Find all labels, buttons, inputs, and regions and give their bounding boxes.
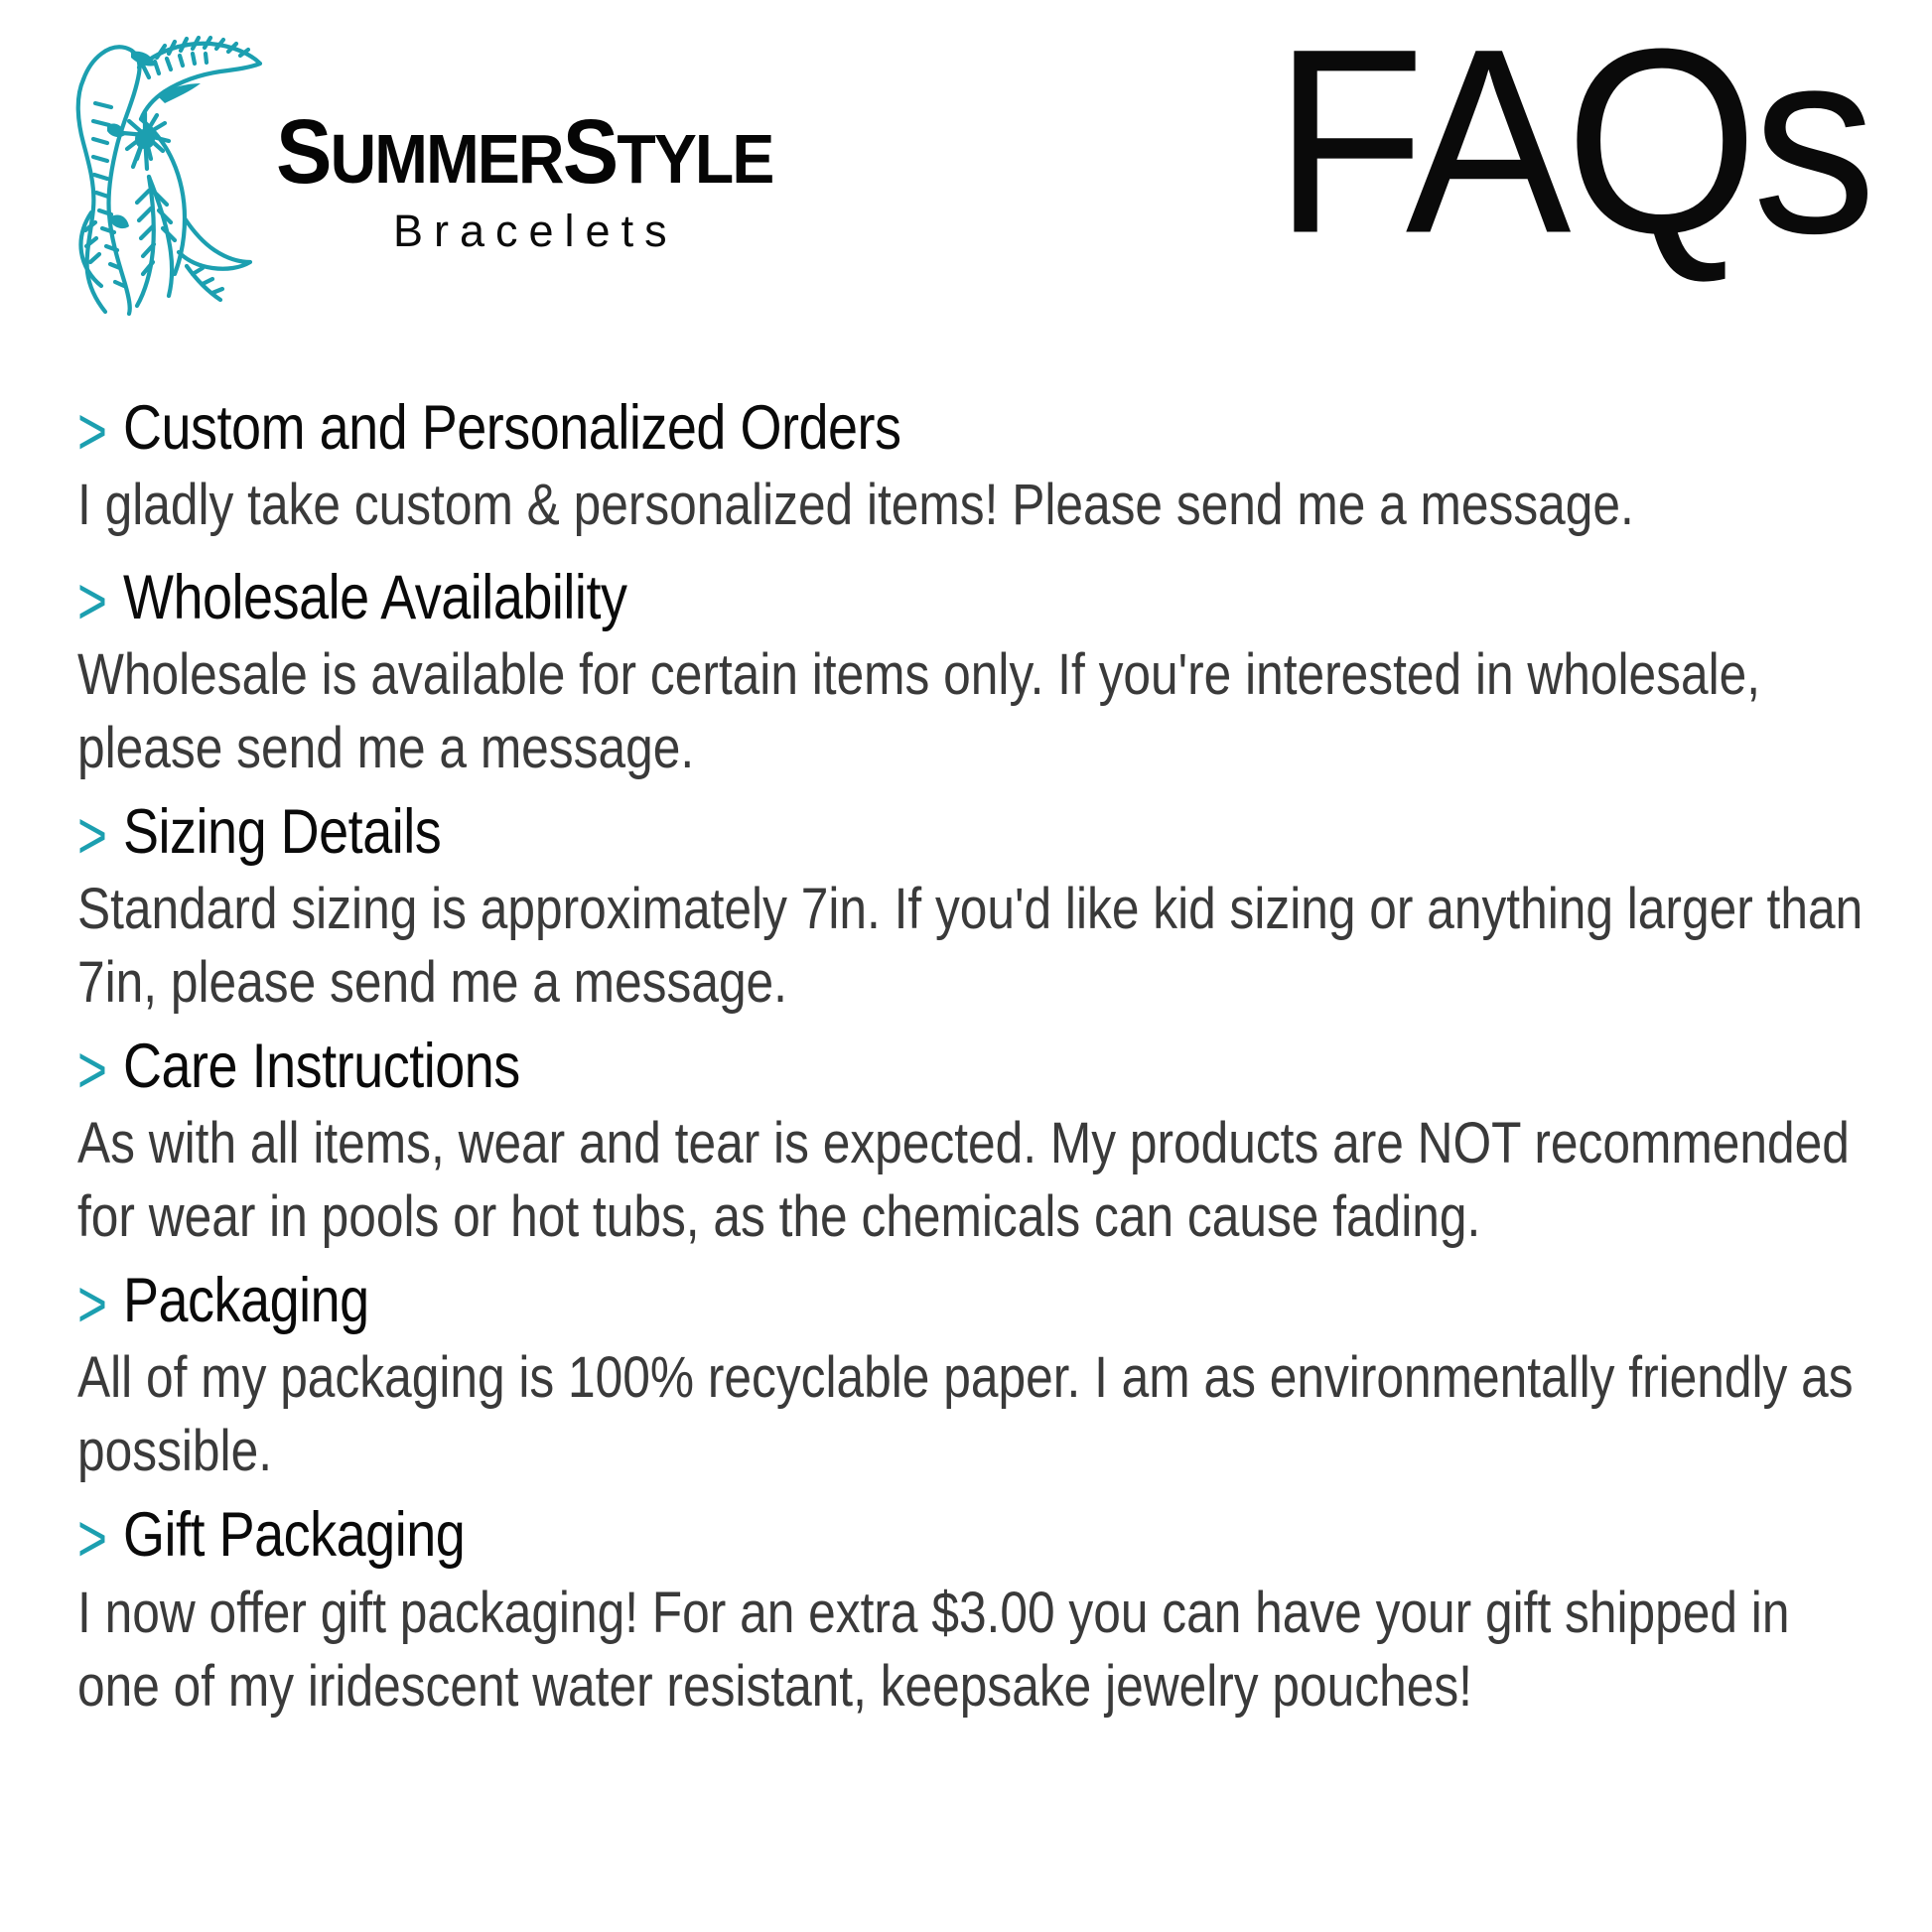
faq-answer: Wholesale is available for certain items… bbox=[77, 639, 1868, 785]
faq-answer: Standard sizing is approximately 7in. If… bbox=[77, 874, 1868, 1020]
chevron-right-icon: > bbox=[77, 398, 107, 466]
faq-question-row: > Sizing Details bbox=[77, 805, 1868, 864]
faq-page: SUMMERSTYLE Bracelets FAQs > Custom and … bbox=[0, 0, 1932, 1932]
brand-subtitle: Bracelets bbox=[393, 206, 816, 257]
faq-question-row: > Packaging bbox=[77, 1274, 1868, 1332]
faq-question-row: > Wholesale Availability bbox=[77, 571, 1868, 629]
faq-question: Packaging bbox=[123, 1270, 369, 1333]
faq-list: > Custom and Personalized Orders I gladl… bbox=[77, 401, 1868, 1708]
faq-item-custom-and-personalized-orders: > Custom and Personalized Orders I gladl… bbox=[77, 401, 1868, 535]
faq-question: Custom and Personalized Orders bbox=[123, 396, 901, 460]
brand-name: SUMMERSTYLE bbox=[276, 113, 773, 192]
faq-item-care-instructions: > Care Instructions As with all items, w… bbox=[77, 1039, 1868, 1238]
faq-question-row: > Custom and Personalized Orders bbox=[77, 401, 1868, 460]
palm-tree-icon bbox=[62, 18, 270, 316]
faq-answer: I gladly take custom & personalized item… bbox=[77, 470, 1868, 542]
chevron-right-icon: > bbox=[77, 568, 107, 635]
faq-answer: As with all items, wear and tear is expe… bbox=[77, 1108, 1868, 1254]
brand-name-tyle: TYLE bbox=[617, 120, 772, 198]
faq-item-gift-packaging: > Gift Packaging I now offer gift packag… bbox=[77, 1508, 1868, 1707]
brand-name-s1: S bbox=[276, 101, 331, 203]
faq-answer: I now offer gift packaging! For an extra… bbox=[77, 1578, 1868, 1724]
faq-item-packaging: > Packaging All of my packaging is 100% … bbox=[77, 1274, 1868, 1472]
chevron-right-icon: > bbox=[77, 802, 107, 870]
faq-question: Care Instructions bbox=[123, 1035, 520, 1098]
page-title: FAQs bbox=[1274, 30, 1870, 253]
brand-logo: SUMMERSTYLE Bracelets bbox=[62, 18, 816, 316]
faq-question-row: > Care Instructions bbox=[77, 1039, 1868, 1098]
chevron-right-icon: > bbox=[77, 1271, 107, 1338]
faq-question: Wholesale Availability bbox=[123, 566, 626, 629]
faq-question-row: > Gift Packaging bbox=[77, 1508, 1868, 1567]
chevron-right-icon: > bbox=[77, 1506, 107, 1574]
brand-wordmark: SUMMERSTYLE Bracelets bbox=[276, 18, 816, 257]
chevron-right-icon: > bbox=[77, 1036, 107, 1104]
brand-name-ummer: UMMER bbox=[331, 120, 563, 198]
faq-question: Sizing Details bbox=[123, 800, 441, 864]
faq-question: Gift Packaging bbox=[123, 1504, 465, 1568]
page-header: SUMMERSTYLE Bracelets FAQs bbox=[0, 0, 1932, 328]
faq-item-sizing-details: > Sizing Details Standard sizing is appr… bbox=[77, 805, 1868, 1004]
brand-name-s2: S bbox=[563, 101, 618, 203]
faq-answer: All of my packaging is 100% recyclable p… bbox=[77, 1342, 1868, 1488]
faq-item-wholesale-availability: > Wholesale Availability Wholesale is av… bbox=[77, 571, 1868, 769]
